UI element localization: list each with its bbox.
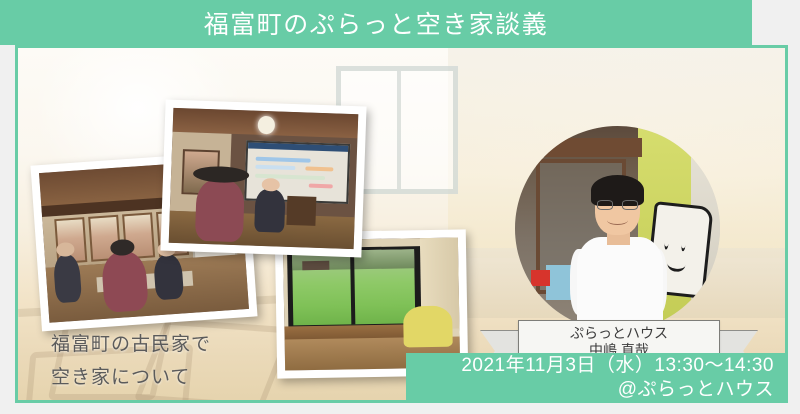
nameplate-organization: ぷらっとハウス <box>570 325 668 343</box>
speaker-portrait <box>515 126 720 331</box>
event-venue: @ぷらっとハウス <box>618 378 774 402</box>
page-title: 福富町のぷらっと空き家談義 <box>204 5 549 41</box>
title-bar: 福富町のぷらっと空き家談義 <box>0 0 752 45</box>
glasses-icon <box>597 200 638 210</box>
event-datetime: 2021年11月3日（水）13:30〜14:30 <box>461 354 774 378</box>
catch-copy: 福富町の古民家で 空き家について ぷらっと考えてみませんか <box>51 328 289 403</box>
catch-copy-line-1: 福富町の古民家で <box>51 328 289 361</box>
projector-presentation-photo <box>160 100 366 258</box>
event-datetime-banner: 2021年11月3日（水）13:30〜14:30 @ぷらっとハウス <box>406 353 788 403</box>
poster-card: ぷらっとハウス 中嶋 直哉 福富町の古民家で 空き家について ぷらっと考えてみま… <box>15 45 788 403</box>
catch-copy-line-3: ぷらっと考えてみませんか <box>51 395 289 404</box>
catch-copy-line-2: 空き家について <box>51 361 289 394</box>
flyer-poster: 福富町のぷらっと空き家談義 <box>0 0 800 414</box>
